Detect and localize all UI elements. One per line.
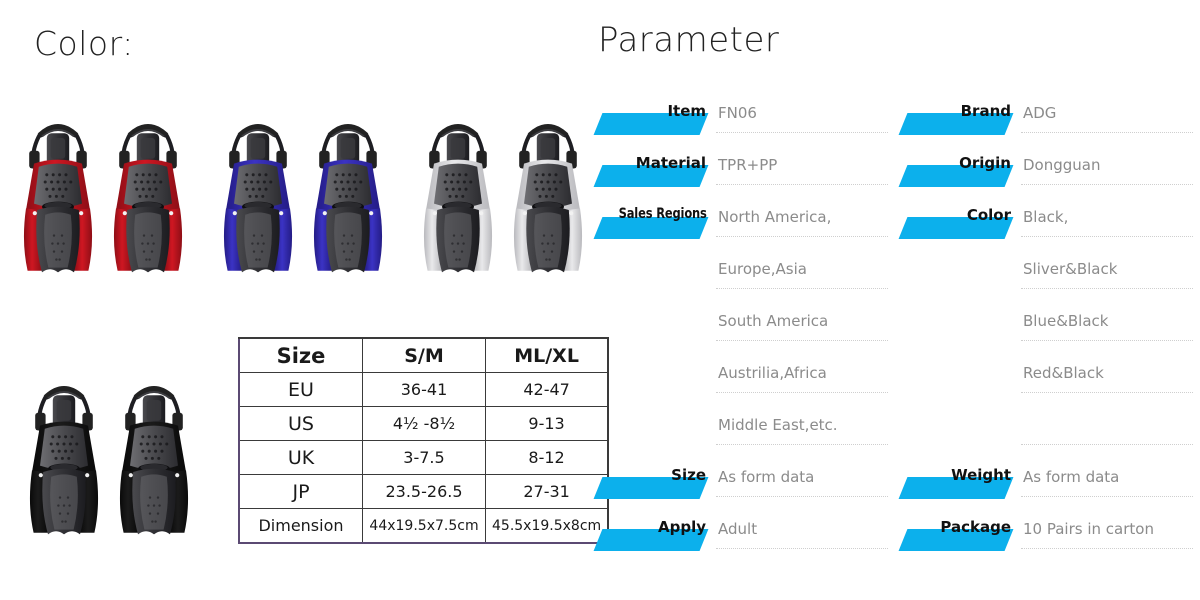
table-cell: 27-31 [486, 475, 609, 509]
parameter-underline [1021, 236, 1193, 237]
parameter-underline [1021, 548, 1193, 549]
fin-pair-black [16, 360, 112, 560]
table-cell: EU [239, 373, 363, 407]
parameter-value: As form data [718, 468, 883, 486]
product-spec-page: Color: Parameter [0, 0, 1200, 600]
parameter-underline [716, 184, 888, 185]
table-row: JP23.5-26.527-31 [239, 475, 608, 509]
fin-pair-red [10, 98, 106, 298]
table-cell: Dimension [239, 509, 363, 544]
parameter-underline [716, 340, 888, 341]
parameter-underline [716, 132, 888, 133]
parameter-value: South America [718, 312, 883, 330]
fin-pair-black [106, 360, 202, 560]
parameter-underline [716, 496, 888, 497]
table-header-cell: ML/XL [486, 338, 609, 373]
parameter-label: Apply [598, 518, 710, 536]
parameter-underline [1021, 392, 1193, 393]
parameter-label: Material [598, 154, 710, 172]
table-cell: 44x19.5x7.5cm [363, 509, 486, 544]
table-cell: 36-41 [363, 373, 486, 407]
parameter-value: 10 Pairs in carton [1023, 520, 1188, 538]
parameter-value: Adult [718, 520, 883, 538]
table-header-row: SizeS/MML/XL [239, 338, 608, 373]
table-header-cell: S/M [363, 338, 486, 373]
parameter-label: Origin [903, 154, 1015, 172]
table-cell: 23.5-26.5 [363, 475, 486, 509]
table-cell: UK [239, 441, 363, 475]
table-header-cell: Size [239, 338, 363, 373]
parameter-underline [1021, 132, 1193, 133]
fin-pair-blue [300, 98, 396, 298]
parameter-underline [1021, 496, 1193, 497]
table-cell: 42-47 [486, 373, 609, 407]
parameter-value: Blue&Black [1023, 312, 1188, 330]
parameter-value: Europe,Asia [718, 260, 883, 278]
parameter-label: Weight [903, 466, 1015, 484]
table-row: UK3-7.58-12 [239, 441, 608, 475]
parameter-value: Austrilia,Africa [718, 364, 883, 382]
parameter-underline [1021, 340, 1193, 341]
parameter-value: TPR+PP [718, 156, 883, 174]
table-cell: 4½ -8½ [363, 407, 486, 441]
table-row: EU36-4142-47 [239, 373, 608, 407]
parameter-value: ADG [1023, 104, 1188, 122]
table-cell: US [239, 407, 363, 441]
parameter-underline [716, 236, 888, 237]
parameter-value: FN06 [718, 104, 883, 122]
table-cell: 45.5x19.5x8cm [486, 509, 609, 544]
parameter-label: Item [598, 102, 710, 120]
table-row: US4½ -8½9-13 [239, 407, 608, 441]
table-cell: JP [239, 475, 363, 509]
parameter-label: Color [903, 206, 1015, 224]
parameter-underline [716, 392, 888, 393]
parameter-value: Sliver&Black [1023, 260, 1188, 278]
parameter-section-heading: Parameter [598, 20, 779, 60]
table-row: Dimension44x19.5x7.5cm45.5x19.5x8cm [239, 509, 608, 544]
table-cell: 8-12 [486, 441, 609, 475]
fin-pair-red [100, 98, 196, 298]
parameter-label: Brand [903, 102, 1015, 120]
parameter-value: Black, [1023, 208, 1188, 226]
parameter-label: Size [598, 466, 710, 484]
size-chart-table: SizeS/MML/XLEU36-4142-47US4½ -8½9-13UK3-… [238, 337, 609, 544]
parameter-value: North America, [718, 208, 883, 226]
table-cell: 3-7.5 [363, 441, 486, 475]
parameter-label: Sales Regions [618, 206, 710, 222]
color-section-heading: Color: [34, 24, 134, 63]
parameter-label: Package [903, 518, 1015, 536]
parameter-underline [1021, 184, 1193, 185]
fin-pair-silver [410, 98, 506, 298]
parameter-underline [1021, 444, 1193, 445]
parameter-value: As form data [1023, 468, 1188, 486]
table-cell: 9-13 [486, 407, 609, 441]
parameter-underline [716, 444, 888, 445]
parameter-value: Red&Black [1023, 364, 1188, 382]
parameter-underline [1021, 288, 1193, 289]
parameter-value: Dongguan [1023, 156, 1188, 174]
parameter-underline [716, 288, 888, 289]
parameter-underline [716, 548, 888, 549]
fin-pair-silver [500, 98, 596, 298]
parameter-value: Middle East,etc. [718, 416, 883, 434]
fin-pair-blue [210, 98, 306, 298]
